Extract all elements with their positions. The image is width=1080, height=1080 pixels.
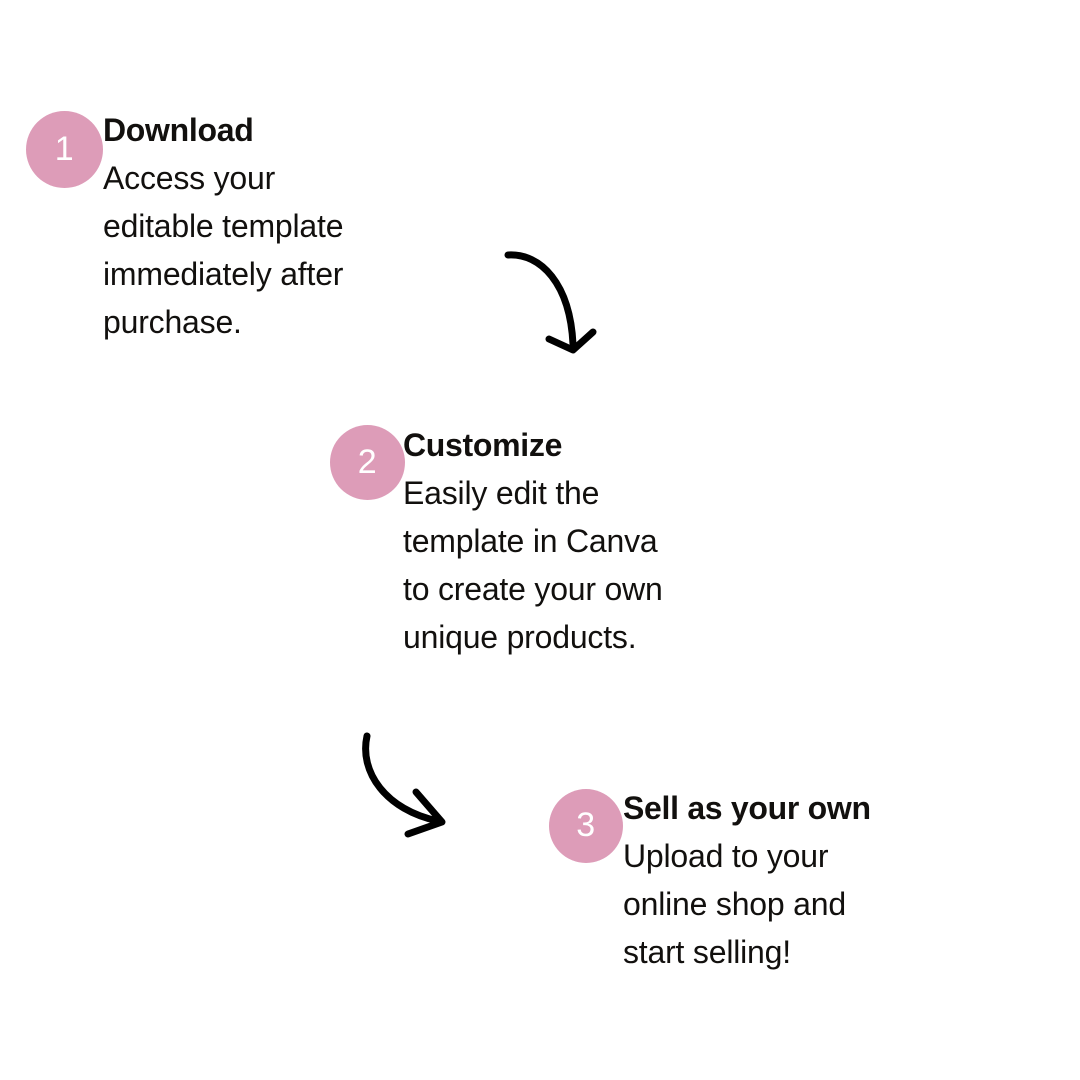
step-text-block-2: Customize Easily edit the template in Ca… xyxy=(403,421,663,661)
step-text-block-3: Sell as your own Upload to your online s… xyxy=(623,784,871,976)
step-body-line: Upload to your xyxy=(623,832,871,880)
step-body-line: Access your xyxy=(103,154,343,202)
step-badge-3: 3 xyxy=(549,789,623,863)
step-badge-2: 2 xyxy=(330,425,405,500)
step-body-2: Easily edit the template in Canva to cre… xyxy=(403,469,663,661)
step-heading-2: Customize xyxy=(403,421,663,469)
step-body-line: start selling! xyxy=(623,928,871,976)
step-body-line: unique products. xyxy=(403,613,663,661)
step-heading-3: Sell as your own xyxy=(623,784,871,832)
step-body-line: template in Canva xyxy=(403,517,663,565)
step-body-line: to create your own xyxy=(403,565,663,613)
step-body-line: online shop and xyxy=(623,880,871,928)
step-body-line: editable template xyxy=(103,202,343,250)
step-body-1: Access your editable template immediatel… xyxy=(103,154,343,346)
infographic-canvas: 1 Download Access your editable template… xyxy=(0,0,1080,1080)
step-badge-number-1: 1 xyxy=(55,132,74,166)
step-badge-number-2: 2 xyxy=(358,445,377,479)
step-body-line: purchase. xyxy=(103,298,343,346)
step-heading-1: Download xyxy=(103,106,343,154)
step-body-3: Upload to your online shop and start sel… xyxy=(623,832,871,976)
step-badge-1: 1 xyxy=(26,111,103,188)
curved-arrow-down-icon xyxy=(495,240,605,365)
curved-arrow-right-icon xyxy=(350,722,460,852)
step-body-line: Easily edit the xyxy=(403,469,663,517)
step-body-line: immediately after xyxy=(103,250,343,298)
step-text-block-1: Download Access your editable template i… xyxy=(103,106,343,346)
step-badge-number-3: 3 xyxy=(576,808,595,842)
